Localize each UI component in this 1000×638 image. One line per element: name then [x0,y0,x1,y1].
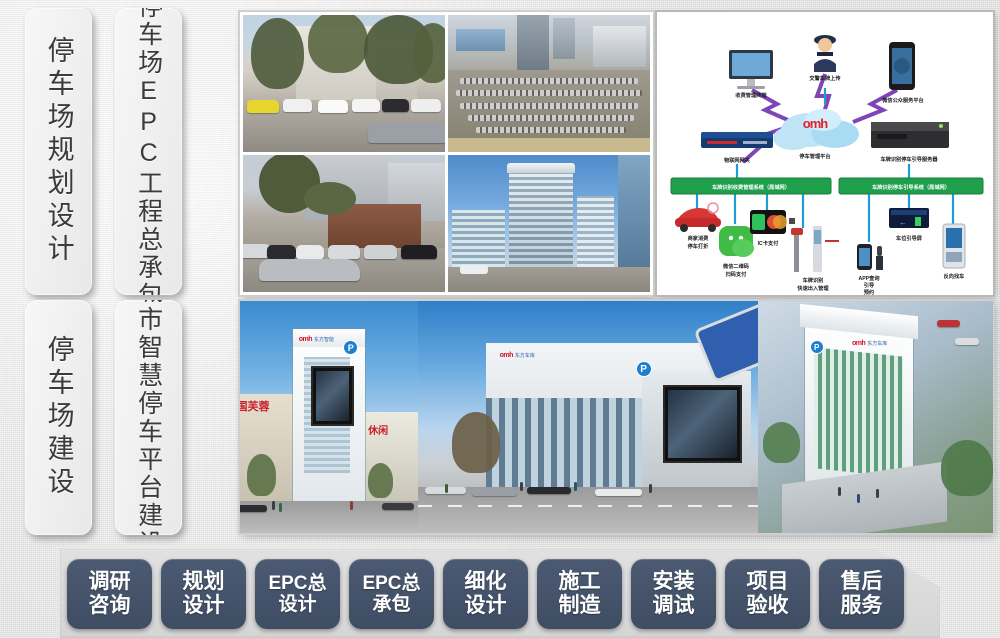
step-acceptance[interactable]: 项目 验收 [725,559,810,629]
render-street-garage: P omh 东方车库 [418,301,758,533]
ic-card-label: IC卡支付 [758,239,780,247]
topology-svg: omh 停车管理平台 收费管理终端 交警车牌上传 微信公众服务平台 物联网网关 [657,12,993,295]
parking-badge: P [636,361,652,377]
merchant-discount-label: 商家消费 [688,234,710,242]
wechat-qr-label-2: 扫码支付 [726,270,748,278]
reverse-finding-label: 反向找车 [944,272,965,280]
sidebar-card-label: 城市智慧停车平台建设 [135,300,161,535]
sidebar-card-smart-parking-platform[interactable]: 城市智慧停车平台建设 [115,300,182,535]
photo-street-parking [243,15,445,152]
app-query-label: APP查询 [858,274,879,282]
sidebar-card-parking-epc[interactable]: 停车场EPC工程总承包 [115,8,182,295]
sidebar-card-label: 停车场建设 [44,335,72,500]
fast-entry-label-2: 快速出入管理 [797,284,829,292]
brand-text: omh [852,340,865,347]
step-detail-design[interactable]: 细化 设计 [443,559,528,629]
toll-terminal-label: 收费管理终端 [735,91,767,99]
plate-guidance-system-bar: 车牌识别停车引导系统（局域网） [839,178,983,194]
brand-logo: omh 东方车库 [500,352,535,359]
step-epc-contract[interactable]: EPC总 承包 [349,559,434,629]
plate-guidance-system-label: 车牌识别停车引导系统（局域网） [872,183,950,191]
brand-logo: omh 东方智能 [299,336,334,343]
brand-text: omh [299,336,312,343]
step-manufacture[interactable]: 施工 制造 [537,559,622,629]
brand-cn-text: 东方智能 [314,336,334,343]
kiosk-icon [943,224,965,268]
photo-grid [240,12,653,295]
step-install-debug[interactable]: 安装 调试 [631,559,716,629]
render-tower-garage: P omh 东方智能 国芙蓉 休闲 [240,301,418,533]
wechat-qr-label: 微信二维码 [722,262,749,270]
photo-aerial-lot [448,15,650,152]
sign-left: 国芙蓉 [240,398,269,414]
smartphone-icon [889,42,915,90]
svg-text:omh: omh [803,116,829,131]
system-topology-diagram: omh 停车管理平台 收费管理终端 交警车牌上传 微信公众服务平台 物联网网关 [657,12,993,295]
space-guidance-label: 车位引导屏 [896,234,923,242]
iot-gateway-label: 物联网网关 [724,156,751,164]
brand-cn-text: 东方车库 [515,352,535,359]
app-query-label-2: 引导 [864,281,874,289]
sidebar-card-parking-planning-design[interactable]: 停车场规划设计 [25,8,92,295]
step-research[interactable]: 调研 咨询 [67,559,152,629]
brand-text: omh [500,352,513,359]
step-planning[interactable]: 规划 设计 [161,559,246,629]
render-strip: P omh 东方智能 国芙蓉 休闲 P omh 东方车库 [240,301,993,533]
server-icon [871,122,949,148]
process-steps: 调研 咨询 规划 设计 EPC总 设计 EPC总 承包 细化 设计 施工 制造 … [60,558,940,630]
police-upload-label: 交警车牌上传 [809,74,841,82]
wechat-icon [719,226,754,257]
plate-toll-system-bar: 车牌识别收费管理系统（局域网） [671,178,831,194]
svg-text:←: ← [899,218,907,227]
guidance-server-label: 车牌识别停车引导服务器 [880,155,938,163]
router-icon [701,132,773,148]
cloud-label: 停车管理平台 [799,152,830,160]
step-epc-design[interactable]: EPC总 设计 [255,559,340,629]
step-after-sales[interactable]: 售后 服务 [819,559,904,629]
police-officer-icon [814,35,836,72]
photo-brick-building-lot [243,155,445,292]
wechat-platform-label: 微信公众服务平台 [881,96,924,104]
brand-logo: omh 东方车库 [852,340,887,347]
sidebar-card-label: 停车场规划设计 [44,36,72,267]
ic-card-icon [750,210,787,234]
sidebar-card-parking-construction[interactable]: 停车场建设 [25,300,92,535]
billboard [663,385,742,463]
billboard [311,366,354,426]
plate-toll-system-label: 车牌识别收费管理系统（局域网） [712,183,790,191]
fast-entry-label: 车牌识别 [803,276,824,284]
led-display-icon: ← [889,208,929,228]
mobile-app-icon [857,244,883,270]
app-query-label-3: 预约 [864,288,874,295]
brand-cn-text: 东方车库 [867,340,887,347]
render-aerial-tower: P omh 东方车库 [758,301,993,533]
sidebar-card-label: 停车场EPC工程总承包 [135,8,161,295]
sign-right: 休闲 [368,422,388,437]
photo-glass-tower [448,155,650,292]
merchant-discount-label-2: 停车打折 [688,242,710,250]
